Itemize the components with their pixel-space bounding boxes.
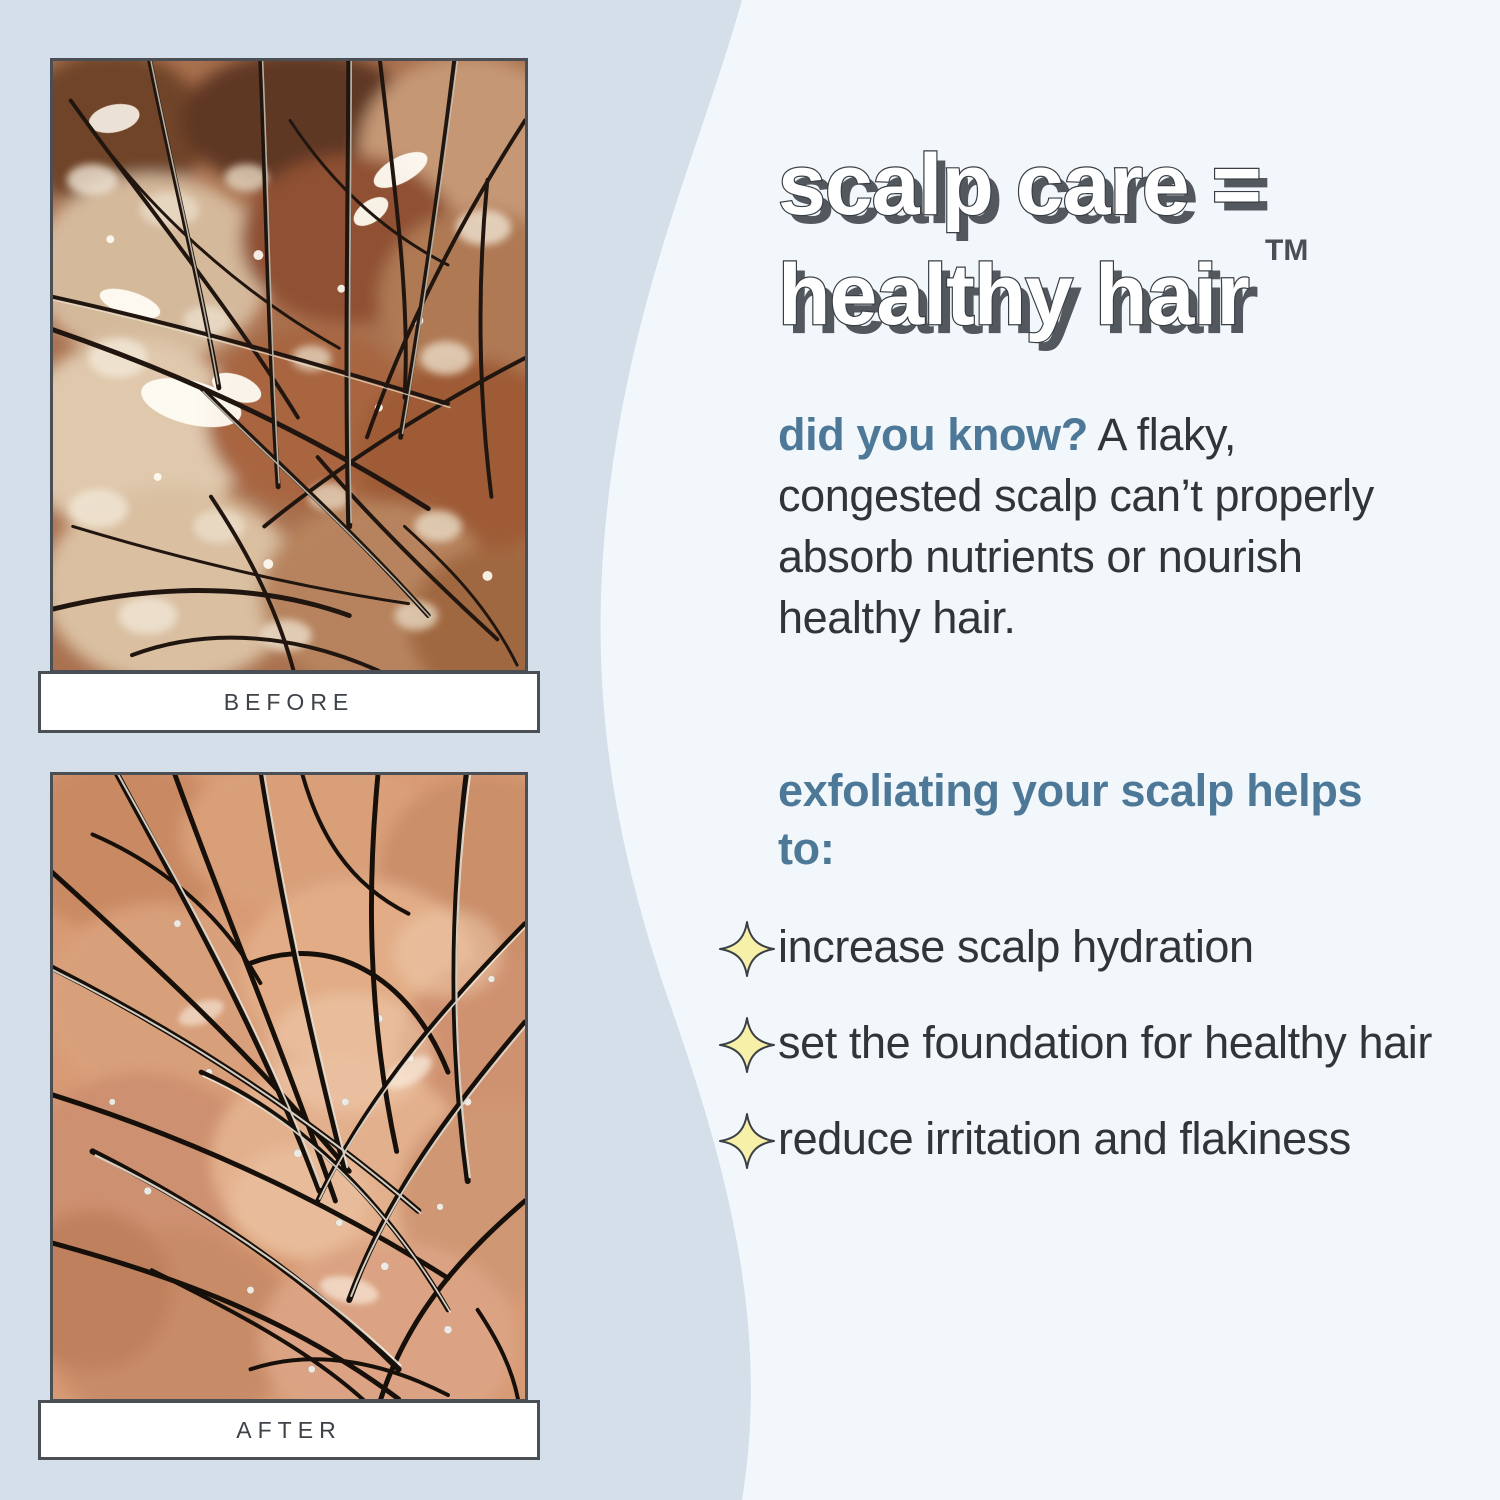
headline-art: scalp care = healthy hair scalp care = h… xyxy=(778,138,1478,368)
headline-line-2: healthy hair xyxy=(778,247,1249,343)
after-block: AFTER xyxy=(50,772,552,1460)
headline-line-1: scalp care = xyxy=(778,137,1261,233)
sparkle-icon xyxy=(716,1110,778,1172)
after-photo-frame xyxy=(50,772,528,1402)
before-caption-label: BEFORE xyxy=(224,689,355,716)
list-item: increase scalp hydration xyxy=(716,916,1456,980)
before-block: BEFORE xyxy=(50,58,552,733)
benefits-list: increase scalp hydration set the foundat… xyxy=(716,916,1456,1204)
list-item-label: reduce irritation and flakiness xyxy=(778,1108,1351,1170)
before-scalp-photo xyxy=(53,61,525,670)
sparkle-icon xyxy=(716,1014,778,1076)
list-item: set the foundation for healthy hair xyxy=(716,1012,1456,1076)
before-caption-badge: BEFORE xyxy=(38,671,540,733)
did-you-know-lead: did you know? xyxy=(778,409,1088,460)
trademark-symbol: TM xyxy=(1265,234,1308,267)
list-item-label: set the foundation for healthy hair xyxy=(778,1012,1432,1074)
after-caption-label: AFTER xyxy=(236,1417,341,1444)
after-scalp-photo xyxy=(53,775,525,1399)
sparkle-icon xyxy=(716,918,778,980)
list-item: reduce irritation and flakiness xyxy=(716,1108,1456,1172)
did-you-know-paragraph: did you know? A flaky, congested scalp c… xyxy=(778,404,1450,648)
exfoliating-heading: exfoliating your scalp helps to: xyxy=(778,762,1378,878)
infographic-root: BEFORE xyxy=(0,0,1500,1500)
list-item-label: increase scalp hydration xyxy=(778,916,1254,978)
headline: scalp care = healthy hair scalp care = h… xyxy=(778,138,1478,368)
before-photo-frame xyxy=(50,58,528,673)
after-caption-badge: AFTER xyxy=(38,1400,540,1460)
copy-column: scalp care = healthy hair scalp care = h… xyxy=(778,0,1468,1500)
